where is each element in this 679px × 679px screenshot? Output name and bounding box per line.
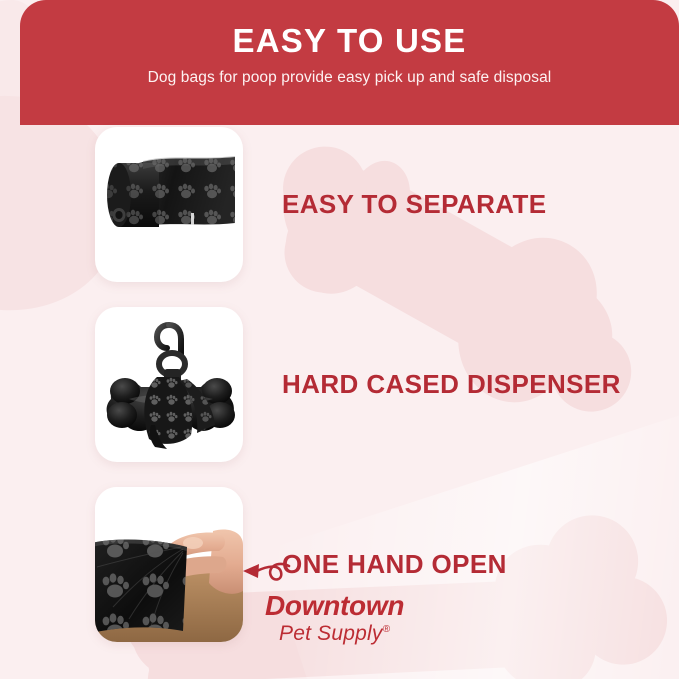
feature-card-2 <box>95 307 243 462</box>
bag-roll-photo <box>95 127 243 282</box>
header-banner: EASY TO USE Dog bags for poop provide ea… <box>20 0 679 125</box>
bone-dispenser-photo <box>95 307 243 462</box>
page-title: EASY TO USE <box>20 24 679 57</box>
logo-brand-text: Downtown <box>265 592 404 620</box>
product-infographic: EASY TO USE Dog bags for poop provide ea… <box>0 0 679 679</box>
feature-card-3 <box>95 487 243 642</box>
feature-card-1 <box>95 127 243 282</box>
feature-label-3: ONE HAND OPEN <box>282 549 507 580</box>
feature-row-easy-to-separate: EASY TO SEPARATE <box>0 118 679 290</box>
feature-row-hard-cased-dispenser: HARD CASED DISPENSER <box>0 298 679 470</box>
registered-trademark-mark: ® <box>383 624 391 635</box>
brand-logo: Downtown Pet Supply® <box>265 592 404 644</box>
curved-arrow-icon <box>237 554 293 590</box>
feature-label-1: EASY TO SEPARATE <box>282 189 547 220</box>
feature-label-2: HARD CASED DISPENSER <box>282 369 621 400</box>
logo-tagline-words: Pet Supply <box>279 622 383 645</box>
logo-tagline-text: Pet Supply® <box>265 623 404 644</box>
one-hand-open-photo <box>95 487 243 642</box>
feature-list: EASY TO SEPARATE <box>0 118 679 658</box>
page-subtitle: Dog bags for poop provide easy pick up a… <box>20 69 679 86</box>
